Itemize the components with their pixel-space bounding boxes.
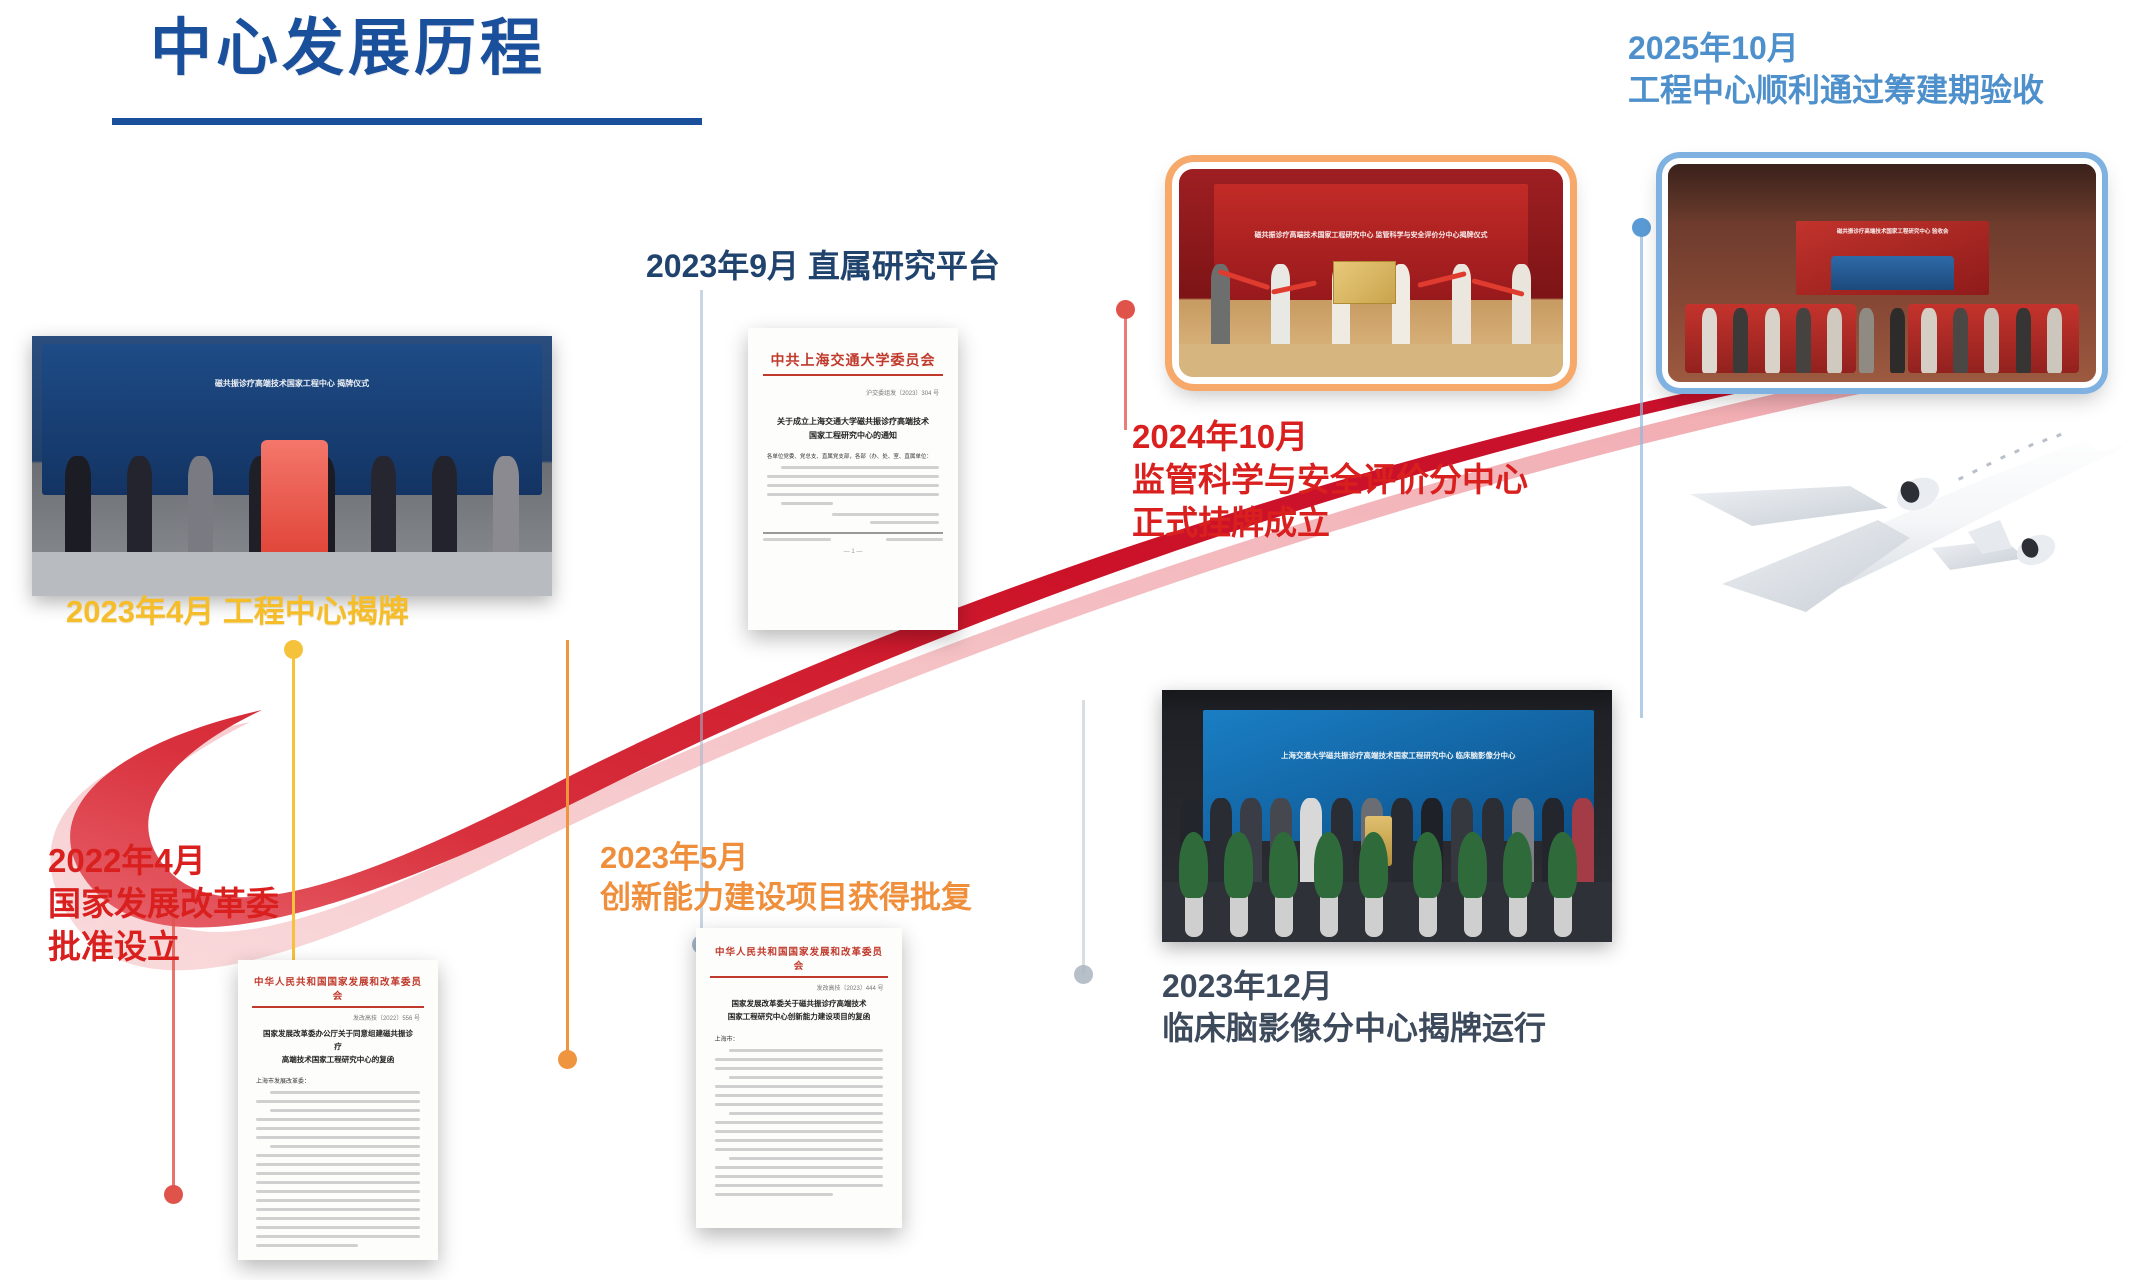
connector-dot-2022-04 [164, 1185, 183, 1204]
photo-2025-10-acceptance: 磁共振诊疗高端技术国家工程研究中心 验收会 [1662, 158, 2102, 388]
connector-dot-2024-10 [1116, 300, 1135, 319]
connector-line-2023-05 [566, 640, 569, 1060]
doc-number-ndrc-approval: 发改高技〔2022〕556 号 [256, 1013, 420, 1022]
connector-dot-2023-05 [558, 1050, 577, 1069]
doc-issuer-sjtu: 中共上海交通大学委员会 [763, 350, 944, 376]
doc-title-ndrc-innovation: 国家发展改革委关于磁共振诊疗高端技术 国家工程研究中心创新能力建设项目的复函 [719, 998, 880, 1024]
airplane-icon [1682, 398, 2130, 634]
doc-recipient-ndrc-approval: 上海市发展改革委： [256, 1076, 420, 1085]
connector-dot-2023-12 [1074, 965, 1093, 984]
doc-title-sjtu: 关于成立上海交通大学磁共振诊疗高端技术 国家工程研究中心的通知 [771, 415, 935, 442]
backdrop-text-2023-04: 磁共振诊疗高端技术国家工程中心 揭牌仪式 [42, 377, 541, 391]
page-title-block: 中心发展历程 [150, 16, 546, 81]
milestone-label-2023-05: 2023年5月 创新能力建设项目获得批复 [600, 838, 1070, 919]
doc-issuer-ndrc-approval: 中华人民共和国国家发展和改革委员会 [252, 974, 424, 1008]
connector-dot-2025-10 [1632, 218, 1651, 237]
backdrop-text-2025-10: 磁共振诊疗高端技术国家工程研究中心 验收会 [1796, 228, 1989, 238]
backdrop-text-2023-12: 上海交通大学磁共振诊疗高端技术国家工程研究中心 临床脑影像分中心 [1203, 749, 1595, 763]
connector-line-2023-12 [1082, 700, 1085, 975]
connector-line-2024-10 [1124, 310, 1127, 430]
photo-2023-04-unveiling: 磁共振诊疗高端技术国家工程中心 揭牌仪式 [32, 336, 552, 596]
doc-number-ndrc-innovation: 发改高技〔2023〕444 号 [715, 983, 884, 992]
milestone-label-2023-04: 2023年4月 工程中心揭牌 [66, 592, 526, 632]
doc-ndrc-innovation: 中华人民共和国国家发展和改革委员会 发改高技〔2023〕444 号 国家发展改革… [696, 928, 902, 1228]
milestone-label-2023-12: 2023年12月 临床脑影像分中心揭牌运行 [1162, 966, 1722, 1049]
doc-title-ndrc-approval: 国家发展改革委办公厅关于同意组建磁共振诊疗 高端技术国家工程研究中心的复函 [260, 1028, 416, 1066]
doc-recipient-ndrc-innovation: 上海市： [715, 1034, 884, 1043]
milestone-label-2025-10: 2025年10月 工程中心顺利通过筹建期验收 [1628, 28, 2130, 111]
doc-ndrc-approval: 中华人民共和国国家发展和改革委员会 发改高技〔2022〕556 号 国家发展改革… [238, 960, 438, 1260]
timeline-poster: 中心发展历程 [0, 0, 2130, 1280]
title-underline [112, 118, 702, 125]
doc-issuer-ndrc-innovation: 中华人民共和国国家发展和改革委员会 [710, 944, 887, 978]
milestone-label-2024-10: 2024年10月 监管科学与安全评价分中心 正式挂牌成立 [1132, 416, 1652, 545]
photo-2023-12-brain-imaging: 上海交通大学磁共振诊疗高端技术国家工程研究中心 临床脑影像分中心 [1162, 690, 1612, 942]
doc-sjtu-party-committee: 中共上海交通大学委员会 沪交委组发〔2023〕304 号 关于成立上海交通大学磁… [748, 328, 958, 630]
milestone-label-2022-04: 2022年4月 国家发展改革委 批准设立 [48, 840, 378, 969]
backdrop-text-2024-10: 磁共振诊疗高端技术国家工程研究中心 监管科学与安全评价分中心揭牌仪式 [1214, 230, 1529, 243]
photo-2024-10-ceremony: 磁共振诊疗高端技术国家工程研究中心 监管科学与安全评价分中心揭牌仪式 [1172, 162, 1570, 384]
connector-dot-2023-04 [284, 640, 303, 659]
milestone-label-2023-09: 2023年9月 直属研究平台 [646, 246, 1166, 288]
doc-number-sjtu: 沪交委组发〔2023〕304 号 [767, 388, 939, 397]
doc-recipient-sjtu: 各单位党委、党总支、直属党支部，各部（办、处、室、直属单位： [767, 452, 939, 460]
page-title: 中心发展历程 [150, 16, 546, 81]
